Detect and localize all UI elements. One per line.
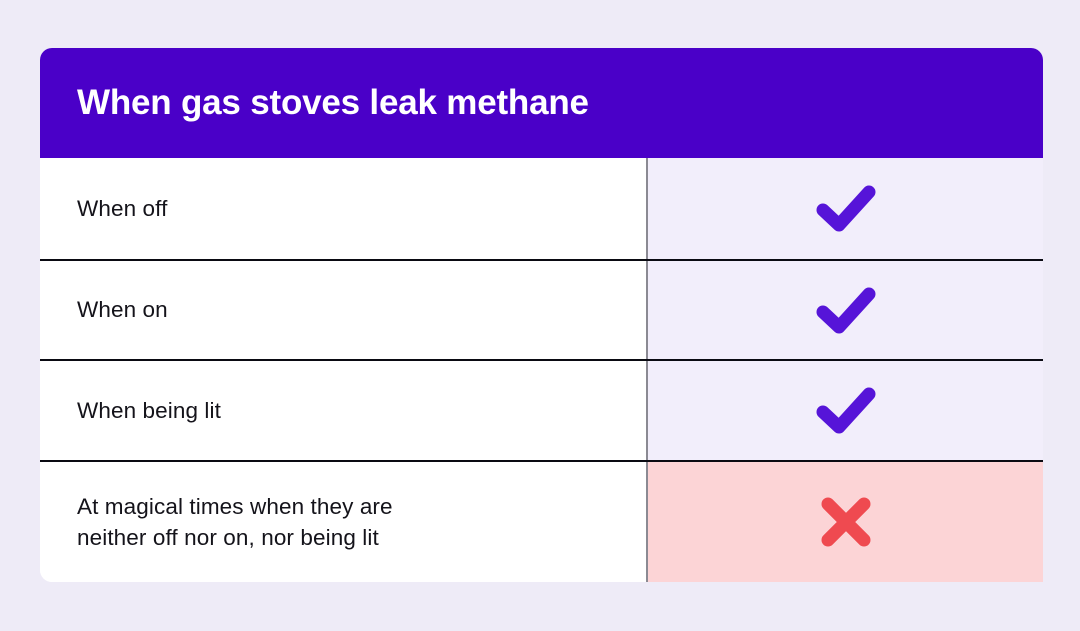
row-label-cell: When off <box>40 158 646 259</box>
row-label: At magical times when they are neither o… <box>77 491 393 553</box>
page-root: When gas stoves leak methane When off Wh… <box>0 0 1080 631</box>
check-icon <box>814 384 878 436</box>
table-row: When being lit <box>40 359 1043 460</box>
table-row: When off <box>40 158 1043 259</box>
table-header: When gas stoves leak methane <box>40 48 1043 158</box>
check-icon <box>814 182 878 234</box>
row-label-cell: When being lit <box>40 361 646 460</box>
table-row: When on <box>40 259 1043 360</box>
comparison-table: When gas stoves leak methane When off Wh… <box>40 48 1043 582</box>
row-label-cell: When on <box>40 261 646 360</box>
table-body: When off When on <box>40 158 1043 582</box>
row-label: When on <box>77 294 168 325</box>
row-label: When off <box>77 193 167 224</box>
row-label: When being lit <box>77 395 221 426</box>
row-status-cell <box>646 158 1043 259</box>
table-row: At magical times when they are neither o… <box>40 460 1043 583</box>
row-status-cell <box>646 462 1043 583</box>
row-label-cell: At magical times when they are neither o… <box>40 462 646 583</box>
table-title: When gas stoves leak methane <box>77 84 589 123</box>
row-status-cell <box>646 261 1043 360</box>
check-icon <box>814 284 878 336</box>
row-status-cell <box>646 361 1043 460</box>
cross-icon <box>817 493 875 551</box>
